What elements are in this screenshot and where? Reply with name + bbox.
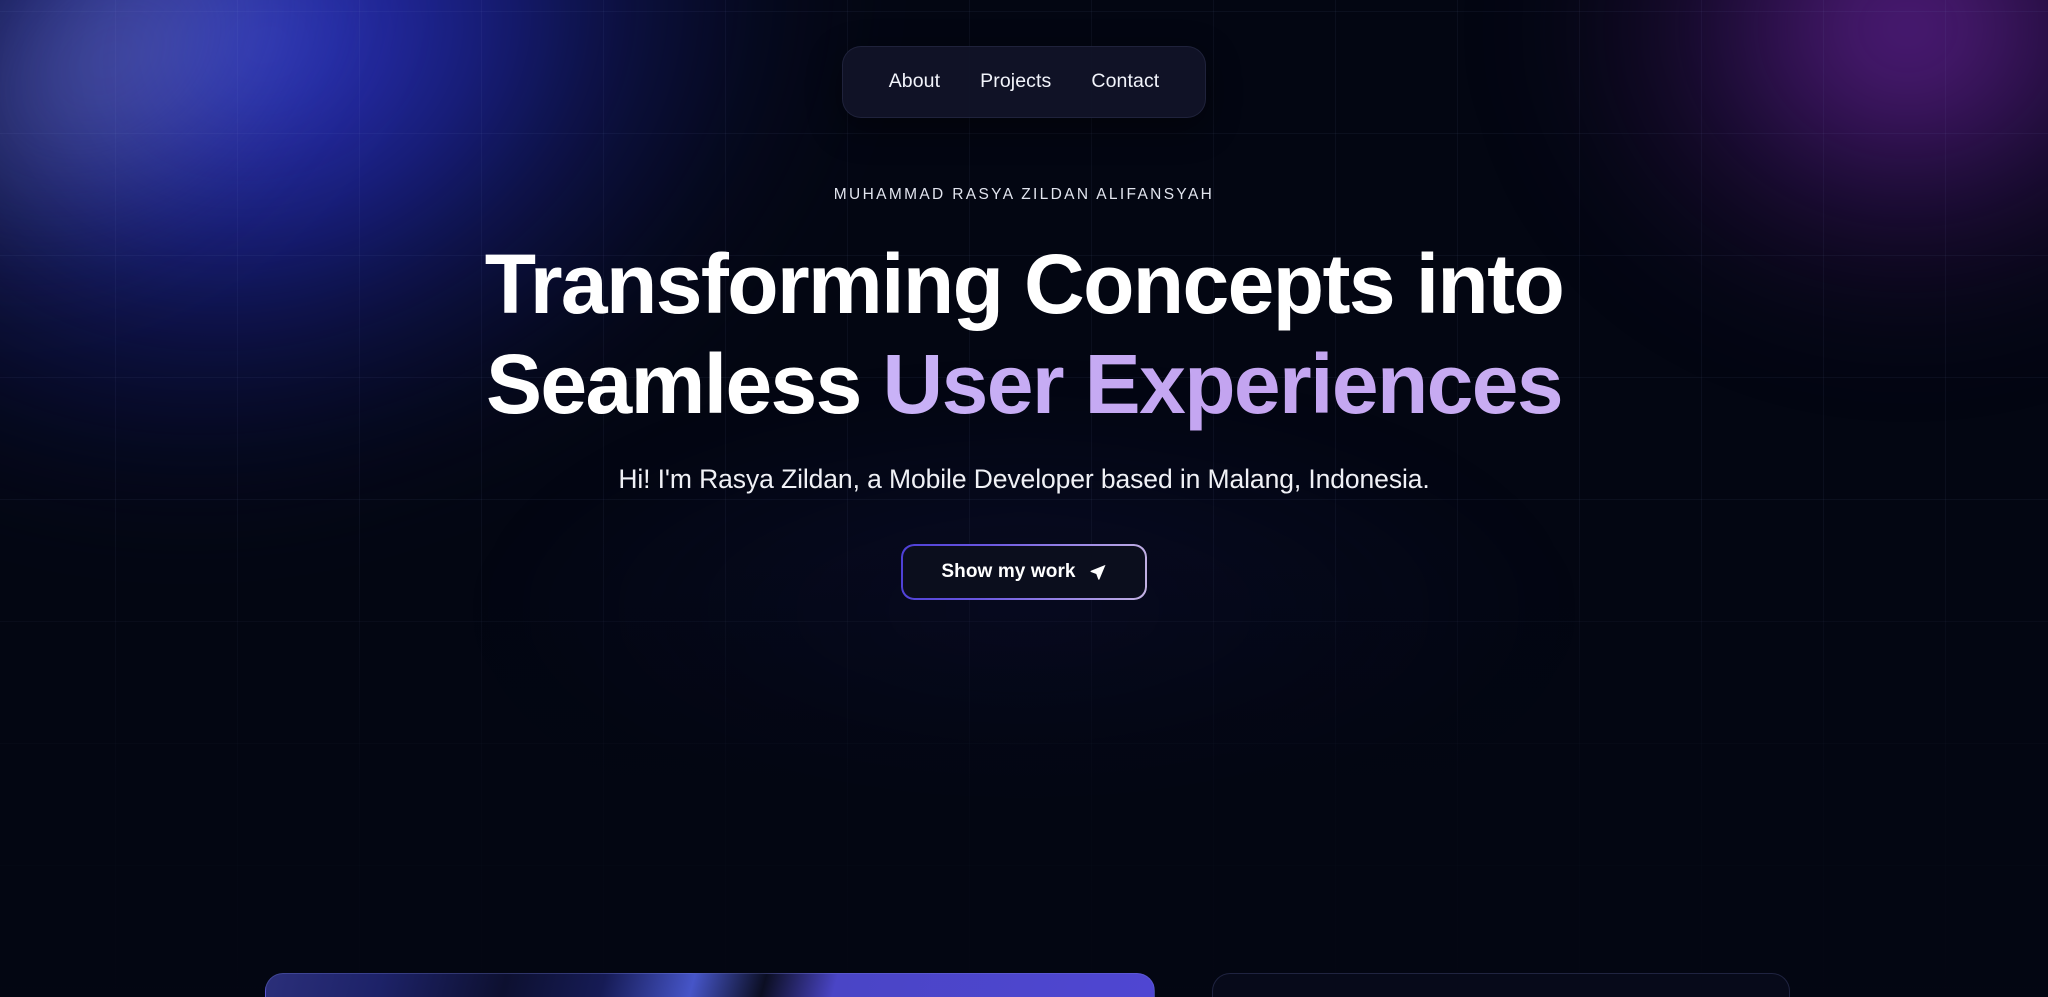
hero-section: MUHAMMAD RASYA ZILDAN ALIFANSYAH Transfo…	[0, 186, 2048, 600]
send-icon	[1089, 563, 1107, 581]
nav-item-projects[interactable]: Projects	[972, 66, 1059, 98]
headline-line-1: Transforming Concepts into	[485, 237, 1563, 331]
nav-item-about[interactable]: About	[881, 66, 948, 98]
project-card-left[interactable]	[265, 973, 1155, 997]
page-title: Transforming Concepts into Seamless User…	[485, 234, 1563, 434]
project-card-right[interactable]	[1212, 973, 1790, 997]
nav-pill: About Projects Contact	[842, 46, 1207, 118]
hero-cta-wrapper: Show my work	[901, 544, 1146, 600]
headline-line-2-accent: User Experiences	[883, 337, 1563, 431]
show-my-work-button[interactable]: Show my work	[901, 544, 1146, 600]
nav-item-contact[interactable]: Contact	[1083, 66, 1167, 98]
showcase-cards	[0, 973, 2048, 997]
hero-subtitle: Hi! I'm Rasya Zildan, a Mobile Developer…	[618, 462, 1429, 496]
hero-eyebrow: MUHAMMAD RASYA ZILDAN ALIFANSYAH	[834, 186, 1214, 204]
navbar: About Projects Contact	[0, 46, 2048, 118]
show-my-work-label: Show my work	[941, 561, 1075, 583]
headline-line-2-plain: Seamless	[486, 337, 883, 431]
